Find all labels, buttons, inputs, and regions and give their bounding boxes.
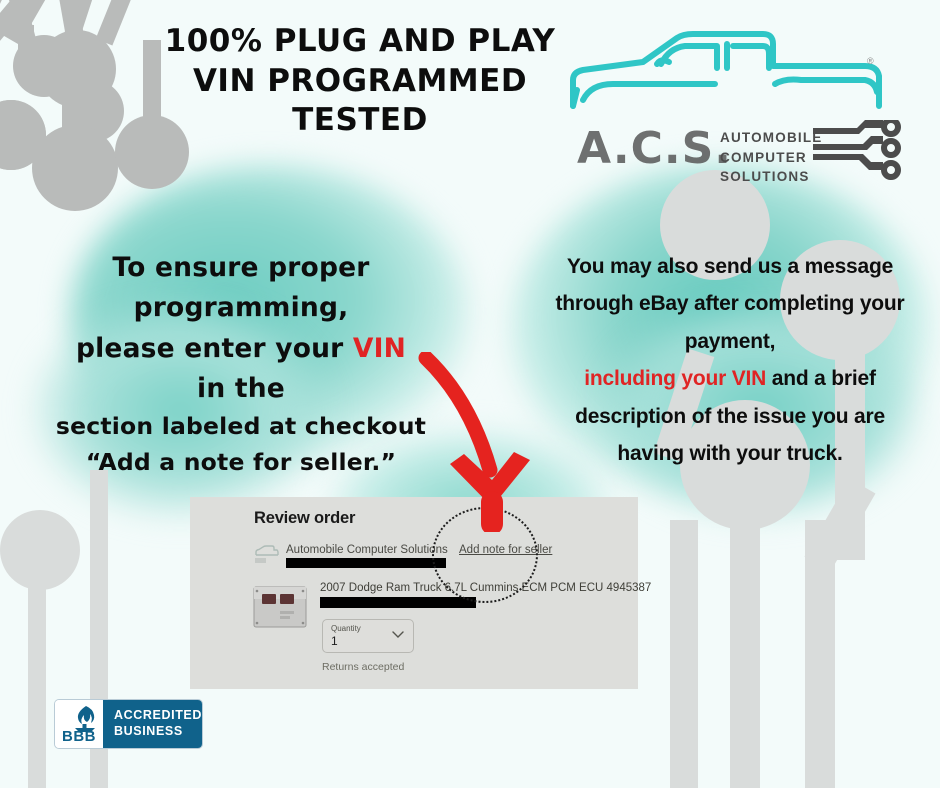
registered-mark: ® xyxy=(867,56,874,66)
logo-word-computer: COMPUTER xyxy=(720,148,823,168)
instruction-text-right: You may also send us a message through e… xyxy=(540,248,920,472)
headline-line-3: TESTED xyxy=(100,101,620,141)
instruction-text-left: To ensure proper programming, please ent… xyxy=(26,248,456,481)
circuit-decoration-icon xyxy=(813,120,905,182)
bbb-logo-panel: BBB xyxy=(55,700,103,748)
page-title: 100% PLUG AND PLAY VIN PROGRAMMED TESTED xyxy=(100,22,620,141)
seller-name: Automobile Computer Solutions xyxy=(286,544,448,556)
copy-right-line-3: payment, xyxy=(540,323,920,360)
chevron-down-icon xyxy=(392,631,404,639)
quantity-value: 1 xyxy=(331,634,338,648)
ebay-checkout-screenshot: Review order Automobile Computer Solutio… xyxy=(190,497,638,689)
red-arrow-icon xyxy=(418,352,538,532)
seller-redaction-bar xyxy=(286,558,446,568)
bbb-letters: BBB xyxy=(55,728,103,745)
copy-left-line-6: “Add a note for seller.” xyxy=(26,445,456,481)
bbb-text-panel: ACCREDITED BUSINESS xyxy=(103,700,202,748)
copy-right-line-2: through eBay after completing your xyxy=(540,285,920,322)
copy-left-line-5: section labeled at checkout xyxy=(26,409,456,445)
headline-line-2: VIN PROGRAMMED xyxy=(100,62,620,102)
bbb-line-business: BUSINESS xyxy=(114,724,202,740)
bbb-accredited-business-badge[interactable]: BBB ACCREDITED BUSINESS xyxy=(55,700,202,748)
copy-right-line-5: description of the issue you are xyxy=(540,398,920,435)
copy-left-line-4: in the xyxy=(26,369,456,409)
quantity-label: Quantity xyxy=(331,624,361,633)
copy-left-line-2: programming, xyxy=(26,288,456,328)
copy-right-line-6: having with your truck. xyxy=(540,435,920,472)
logo-brand-words: AUTOMOBILE COMPUTER SOLUTIONS xyxy=(720,128,823,187)
seller-avatar xyxy=(254,543,280,565)
logo-word-solutions: SOLUTIONS xyxy=(720,167,823,187)
price-redaction-bar xyxy=(320,597,476,608)
headline-line-1: 100% PLUG AND PLAY xyxy=(100,22,620,62)
copy-right-line-1: You may also send us a message xyxy=(540,248,920,285)
copy-left-line-3: please enter your VIN xyxy=(26,329,456,369)
review-order-heading: Review order xyxy=(254,509,355,528)
quantity-select[interactable]: Quantity 1 xyxy=(322,619,414,653)
acs-logo: ® A.C.S. AUTOMOBILE COMPUTER SOLUTIONS xyxy=(565,28,905,173)
copy-right-line-4: including your VIN and a brief xyxy=(540,360,920,397)
logo-brand-short: A.C.S. xyxy=(577,123,732,174)
copy-right-line-4-rest: and a brief xyxy=(766,367,876,390)
ecm-product-thumbnail[interactable] xyxy=(246,579,314,637)
poster-canvas: 100% PLUG AND PLAY VIN PROGRAMMED TESTED… xyxy=(0,0,940,788)
vin-highlight: VIN xyxy=(353,333,406,364)
copy-left-line-1: To ensure proper xyxy=(26,248,456,288)
vin-highlight-right: including your VIN xyxy=(584,367,766,390)
copy-left-line-3-text: please enter your xyxy=(76,333,353,364)
returns-accepted-text: Returns accepted xyxy=(322,661,404,673)
logo-word-automobile: AUTOMOBILE xyxy=(720,128,823,148)
bbb-line-accredited: ACCREDITED xyxy=(114,708,202,724)
